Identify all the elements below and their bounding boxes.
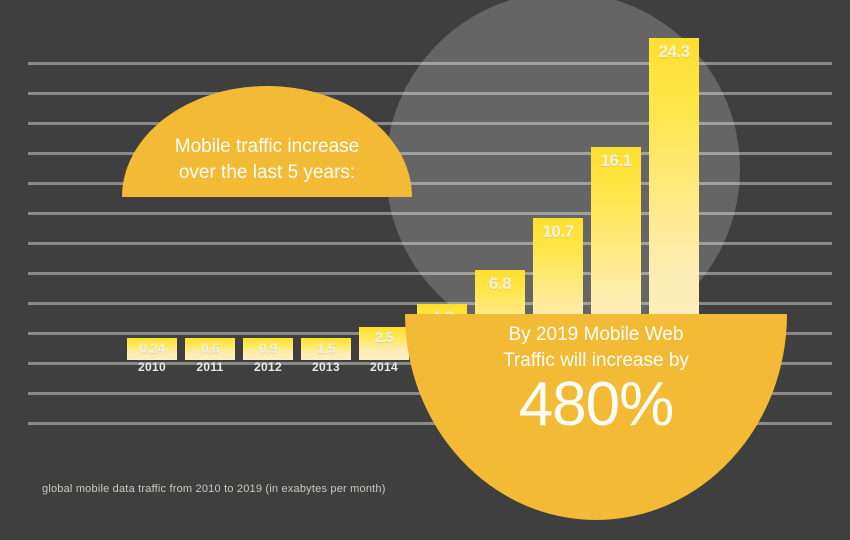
callout-bottom-line1: By 2019 Mobile Web [405, 322, 787, 348]
bar-2010: 0.24 [127, 338, 177, 360]
callout-top-line1: Mobile traffic increase [175, 136, 359, 157]
bar-value-label: 0.9 [243, 340, 293, 356]
callout-bottom-highlight: 480% [405, 370, 787, 440]
x-tick-2011: 2011 [185, 360, 235, 374]
bar-value-label: 16.1 [591, 151, 641, 171]
x-tick-2010: 2010 [127, 360, 177, 374]
bar-value-label: 10.7 [533, 222, 583, 242]
x-tick-2013: 2013 [301, 360, 351, 374]
bar-value-label: 0.6 [185, 340, 235, 356]
callout-top-text: Mobile traffic increase over the last 5 … [122, 134, 412, 186]
infographic-canvas: 0.240.60.91.52.54.26.810.716.124.3 20102… [0, 0, 850, 540]
chart-caption: global mobile data traffic from 2010 to … [42, 483, 386, 495]
bar-2011: 0.6 [185, 338, 235, 360]
bar-2019: 24.3 [649, 38, 699, 360]
bar-value-label: 0.24 [127, 340, 177, 356]
x-tick-2014: 2014 [359, 360, 409, 374]
bar-2012: 0.9 [243, 338, 293, 360]
x-tick-2012: 2012 [243, 360, 293, 374]
bar-value-label: 1.5 [301, 340, 351, 356]
bar-2014: 2.5 [359, 327, 409, 360]
bar-2013: 1.5 [301, 338, 351, 360]
callout-top-line2: over the last 5 years: [179, 162, 355, 183]
bar-value-label: 6.8 [475, 274, 525, 294]
bar-value-label: 2.5 [359, 329, 409, 345]
bar-value-label: 24.3 [649, 42, 699, 62]
